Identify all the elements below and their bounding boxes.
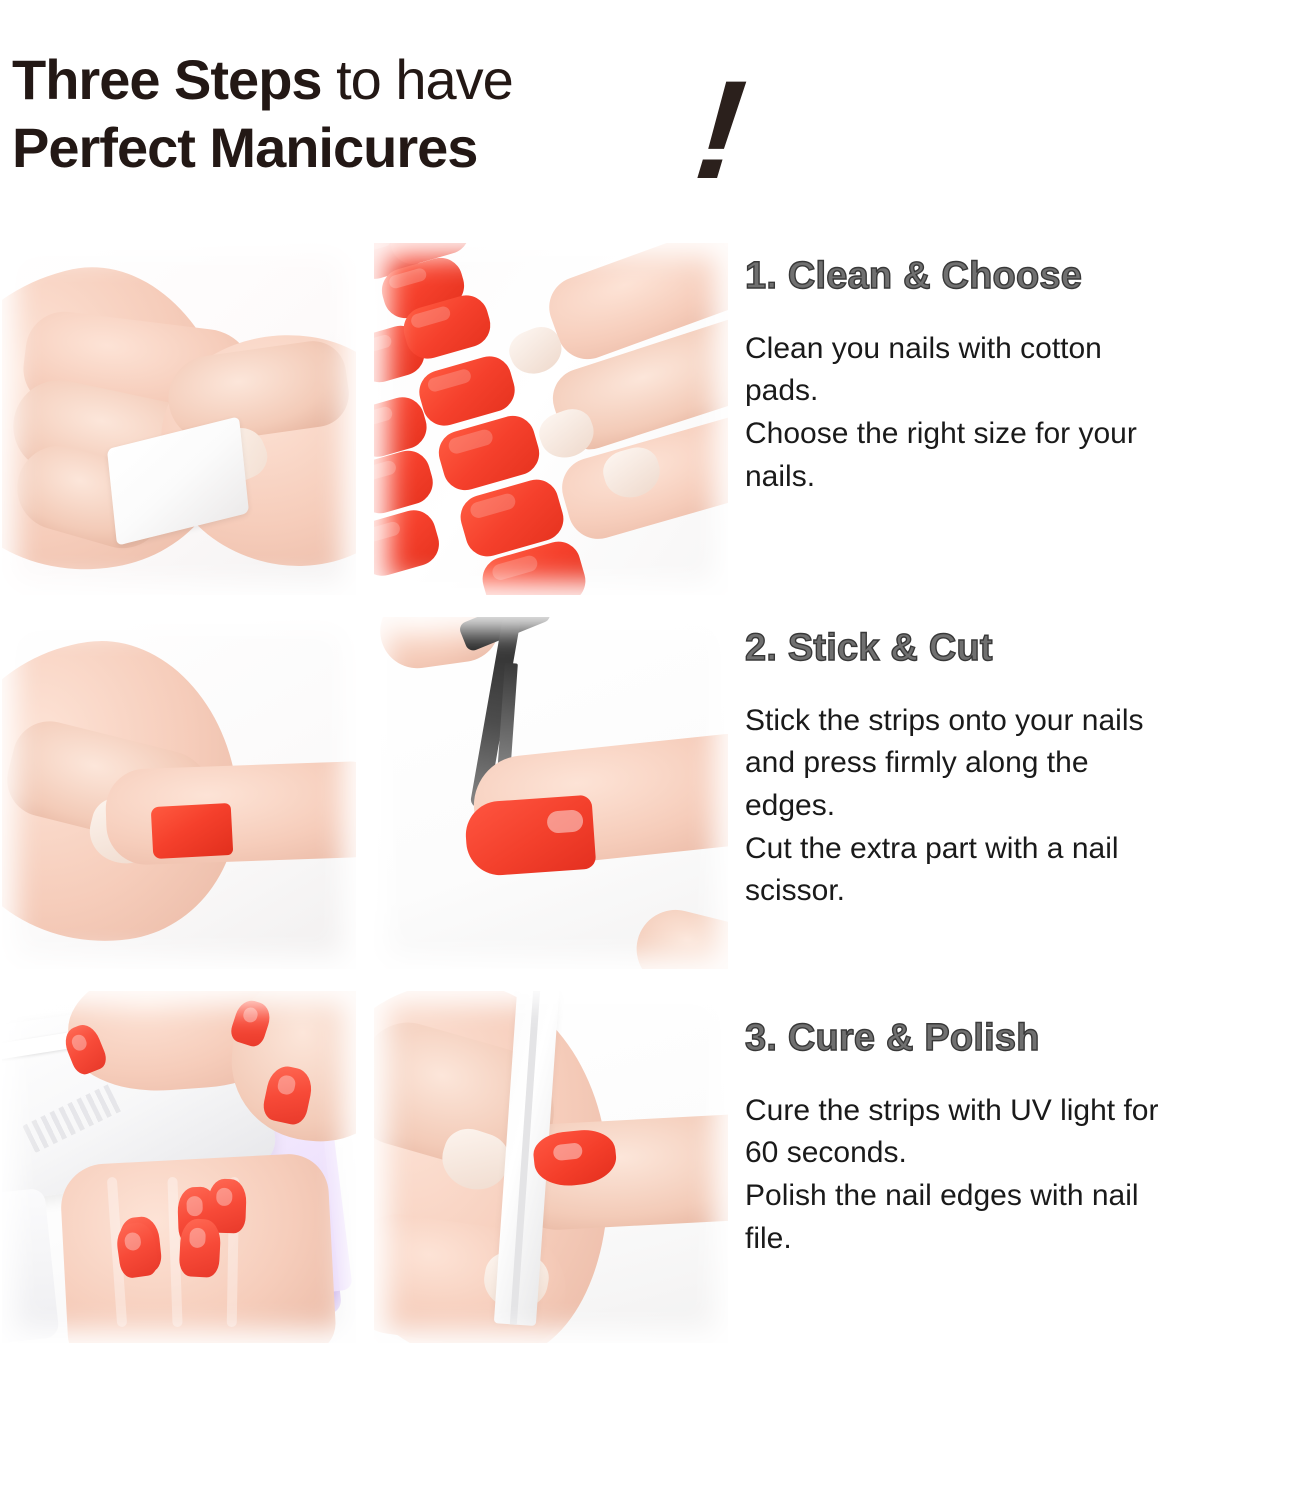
title-strong-text: Three Steps — [12, 48, 322, 111]
nail-strip — [374, 505, 444, 581]
step-2: 2. Stick & Cut Stick the strips onto you… — [745, 628, 1300, 913]
photo-red-nail-strip-sheet — [374, 243, 728, 595]
applied-nail-strip — [151, 803, 234, 859]
title-line-1: Three Steps to have — [12, 52, 792, 108]
step-1-heading: 1. Clean & Choose — [745, 256, 1300, 298]
photo-curing-nails-under-uv-lamp — [2, 991, 356, 1343]
uv-lamp-foot — [2, 1188, 60, 1343]
step-3-heading: 3. Cure & Polish — [745, 1018, 1300, 1060]
step-1-line-4: nails. — [745, 456, 1300, 499]
nail-strip — [374, 446, 438, 519]
step-2-line-5: scissor. — [745, 870, 1300, 913]
step-1: 1. Clean & Choose Clean you nails with c… — [745, 256, 1300, 498]
step-2-heading: 2. Stick & Cut — [745, 628, 1300, 670]
photo-polishing-nail-edge-with-file — [374, 991, 728, 1343]
photo-sticking-strip-onto-nail — [2, 617, 356, 969]
title-line-2: Perfect Manicures — [12, 120, 792, 176]
step-2-line-2: and press firmly along the — [745, 742, 1300, 785]
red-nail — [464, 795, 597, 878]
step-1-body: Clean you nails with cotton pads. Choose… — [745, 328, 1300, 498]
step-1-line-2: pads. — [745, 370, 1300, 413]
photo-grid — [2, 243, 728, 1355]
page-title: Three Steps to have Perfect Manicures — [12, 52, 792, 212]
title-light-text: to have — [322, 48, 513, 111]
step-3-body: Cure the strips with UV light for 60 sec… — [745, 1090, 1300, 1260]
step-2-line-3: edges. — [745, 785, 1300, 828]
step-3: 3. Cure & Polish Cure the strips with UV… — [745, 1018, 1300, 1260]
step-3-line-3: Polish the nail edges with nail — [745, 1175, 1300, 1218]
step-3-line-1: Cure the strips with UV light for — [745, 1090, 1300, 1133]
red-nail — [179, 1218, 222, 1278]
step-1-line-1: Clean you nails with cotton — [745, 328, 1300, 371]
step-1-line-3: Choose the right size for your — [745, 413, 1300, 456]
step-2-line-1: Stick the strips onto your nails — [745, 700, 1300, 743]
step-2-body: Stick the strips onto your nails and pre… — [745, 700, 1300, 913]
photo-cleaning-nail-with-cotton-pad — [2, 243, 356, 595]
step-3-line-2: 60 seconds. — [745, 1132, 1300, 1175]
lower-finger — [628, 902, 728, 969]
strip-sheet — [374, 243, 728, 595]
step-2-line-4: Cut the extra part with a nail — [745, 828, 1300, 871]
photo-cutting-strip-with-scissors — [374, 617, 728, 969]
step-3-line-4: file. — [745, 1218, 1300, 1261]
